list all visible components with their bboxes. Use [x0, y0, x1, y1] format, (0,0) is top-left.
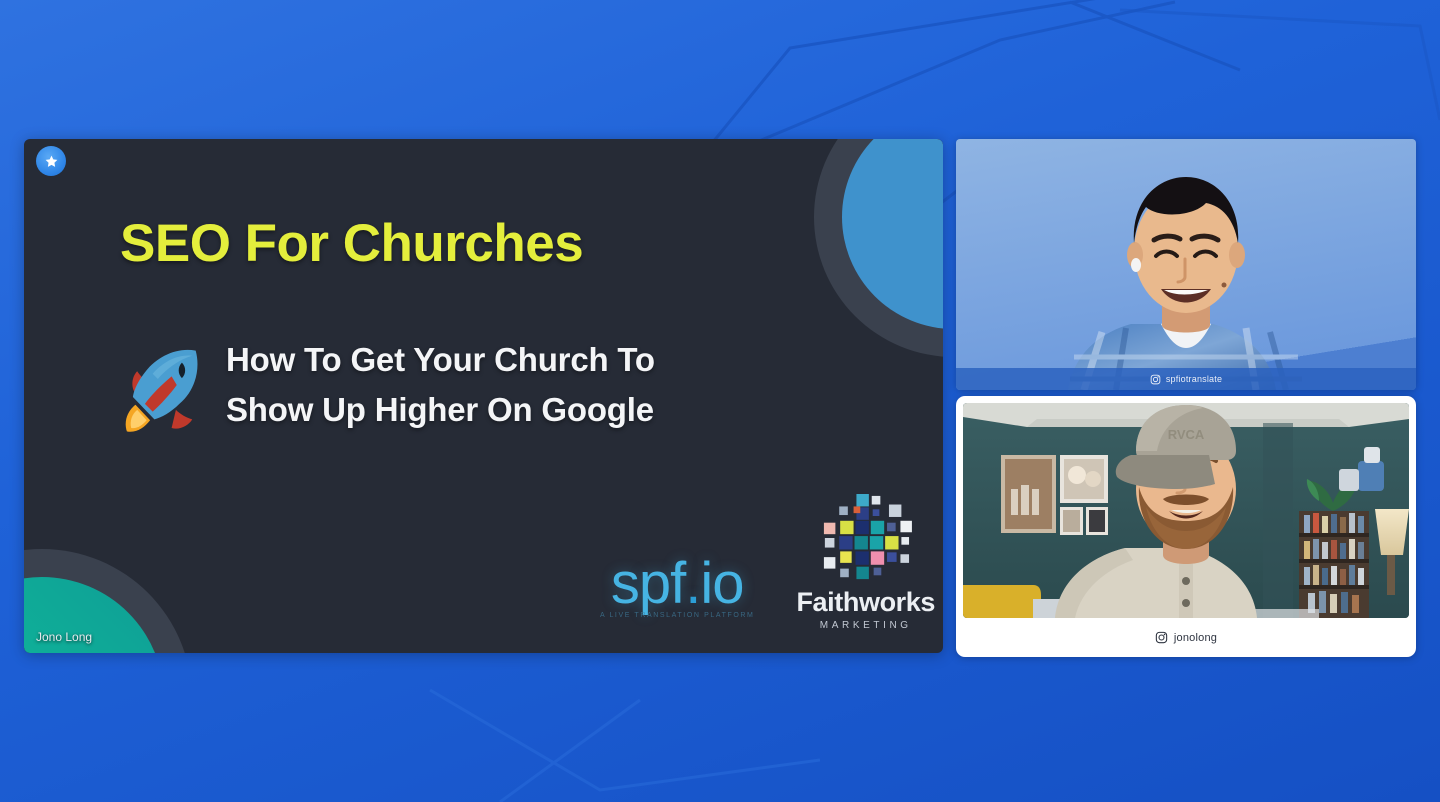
video-tile-spfiotranslate[interactable]: spfiotranslate — [956, 139, 1416, 390]
faithworks-logo: Faithworks MARKETING — [796, 494, 935, 631]
slide-presenter-name: Jono Long — [36, 630, 92, 644]
slide-logos: spf.io A LIVE TRANSLATION PLATFORM — [600, 494, 935, 631]
meeting-stage: SEO For Churches — [0, 0, 1440, 802]
spfio-wordmark: spf.io — [600, 557, 754, 610]
video-tile-jonolong[interactable]: RVCA jonolong — [956, 396, 1416, 657]
slide-title: SEO For Churches — [120, 216, 583, 271]
star-badge[interactable] — [36, 146, 66, 176]
spfio-logo: spf.io A LIVE TRANSLATION PLATFORM — [600, 557, 754, 631]
pixel-cross-icon — [818, 494, 914, 582]
spfio-name: spf — [611, 551, 685, 616]
star-icon — [44, 154, 59, 169]
video-feed-jonolong: RVCA — [963, 403, 1409, 618]
rocket-icon — [120, 343, 206, 439]
spfio-dot: . — [685, 551, 700, 616]
slide-subtitle: How To Get Your Church To Show Up Higher… — [226, 335, 655, 435]
instagram-icon — [1155, 631, 1168, 644]
faithworks-name: Faithworks — [796, 589, 935, 616]
slide-subtitle-row: How To Get Your Church To Show Up Higher… — [120, 335, 655, 439]
subtitle-line-2: Show Up Higher On Google — [226, 385, 655, 435]
video-handle-top: spfiotranslate — [1166, 374, 1222, 384]
svg-text:RVCA: RVCA — [1168, 427, 1205, 442]
instagram-icon — [1150, 374, 1161, 385]
spfio-suffix: io — [700, 551, 743, 616]
presentation-slide[interactable]: SEO For Churches — [24, 139, 943, 653]
video-handle-bottom: jonolong — [1174, 632, 1217, 644]
subtitle-line-1: How To Get Your Church To — [226, 335, 655, 385]
video-name-strip-top: spfiotranslate — [956, 368, 1416, 390]
spfio-tagline: A LIVE TRANSLATION PLATFORM — [600, 612, 754, 619]
video-name-strip-bottom: jonolong — [963, 618, 1409, 657]
faithworks-sub: MARKETING — [796, 620, 935, 631]
video-feed-spfiotranslate — [956, 139, 1416, 390]
